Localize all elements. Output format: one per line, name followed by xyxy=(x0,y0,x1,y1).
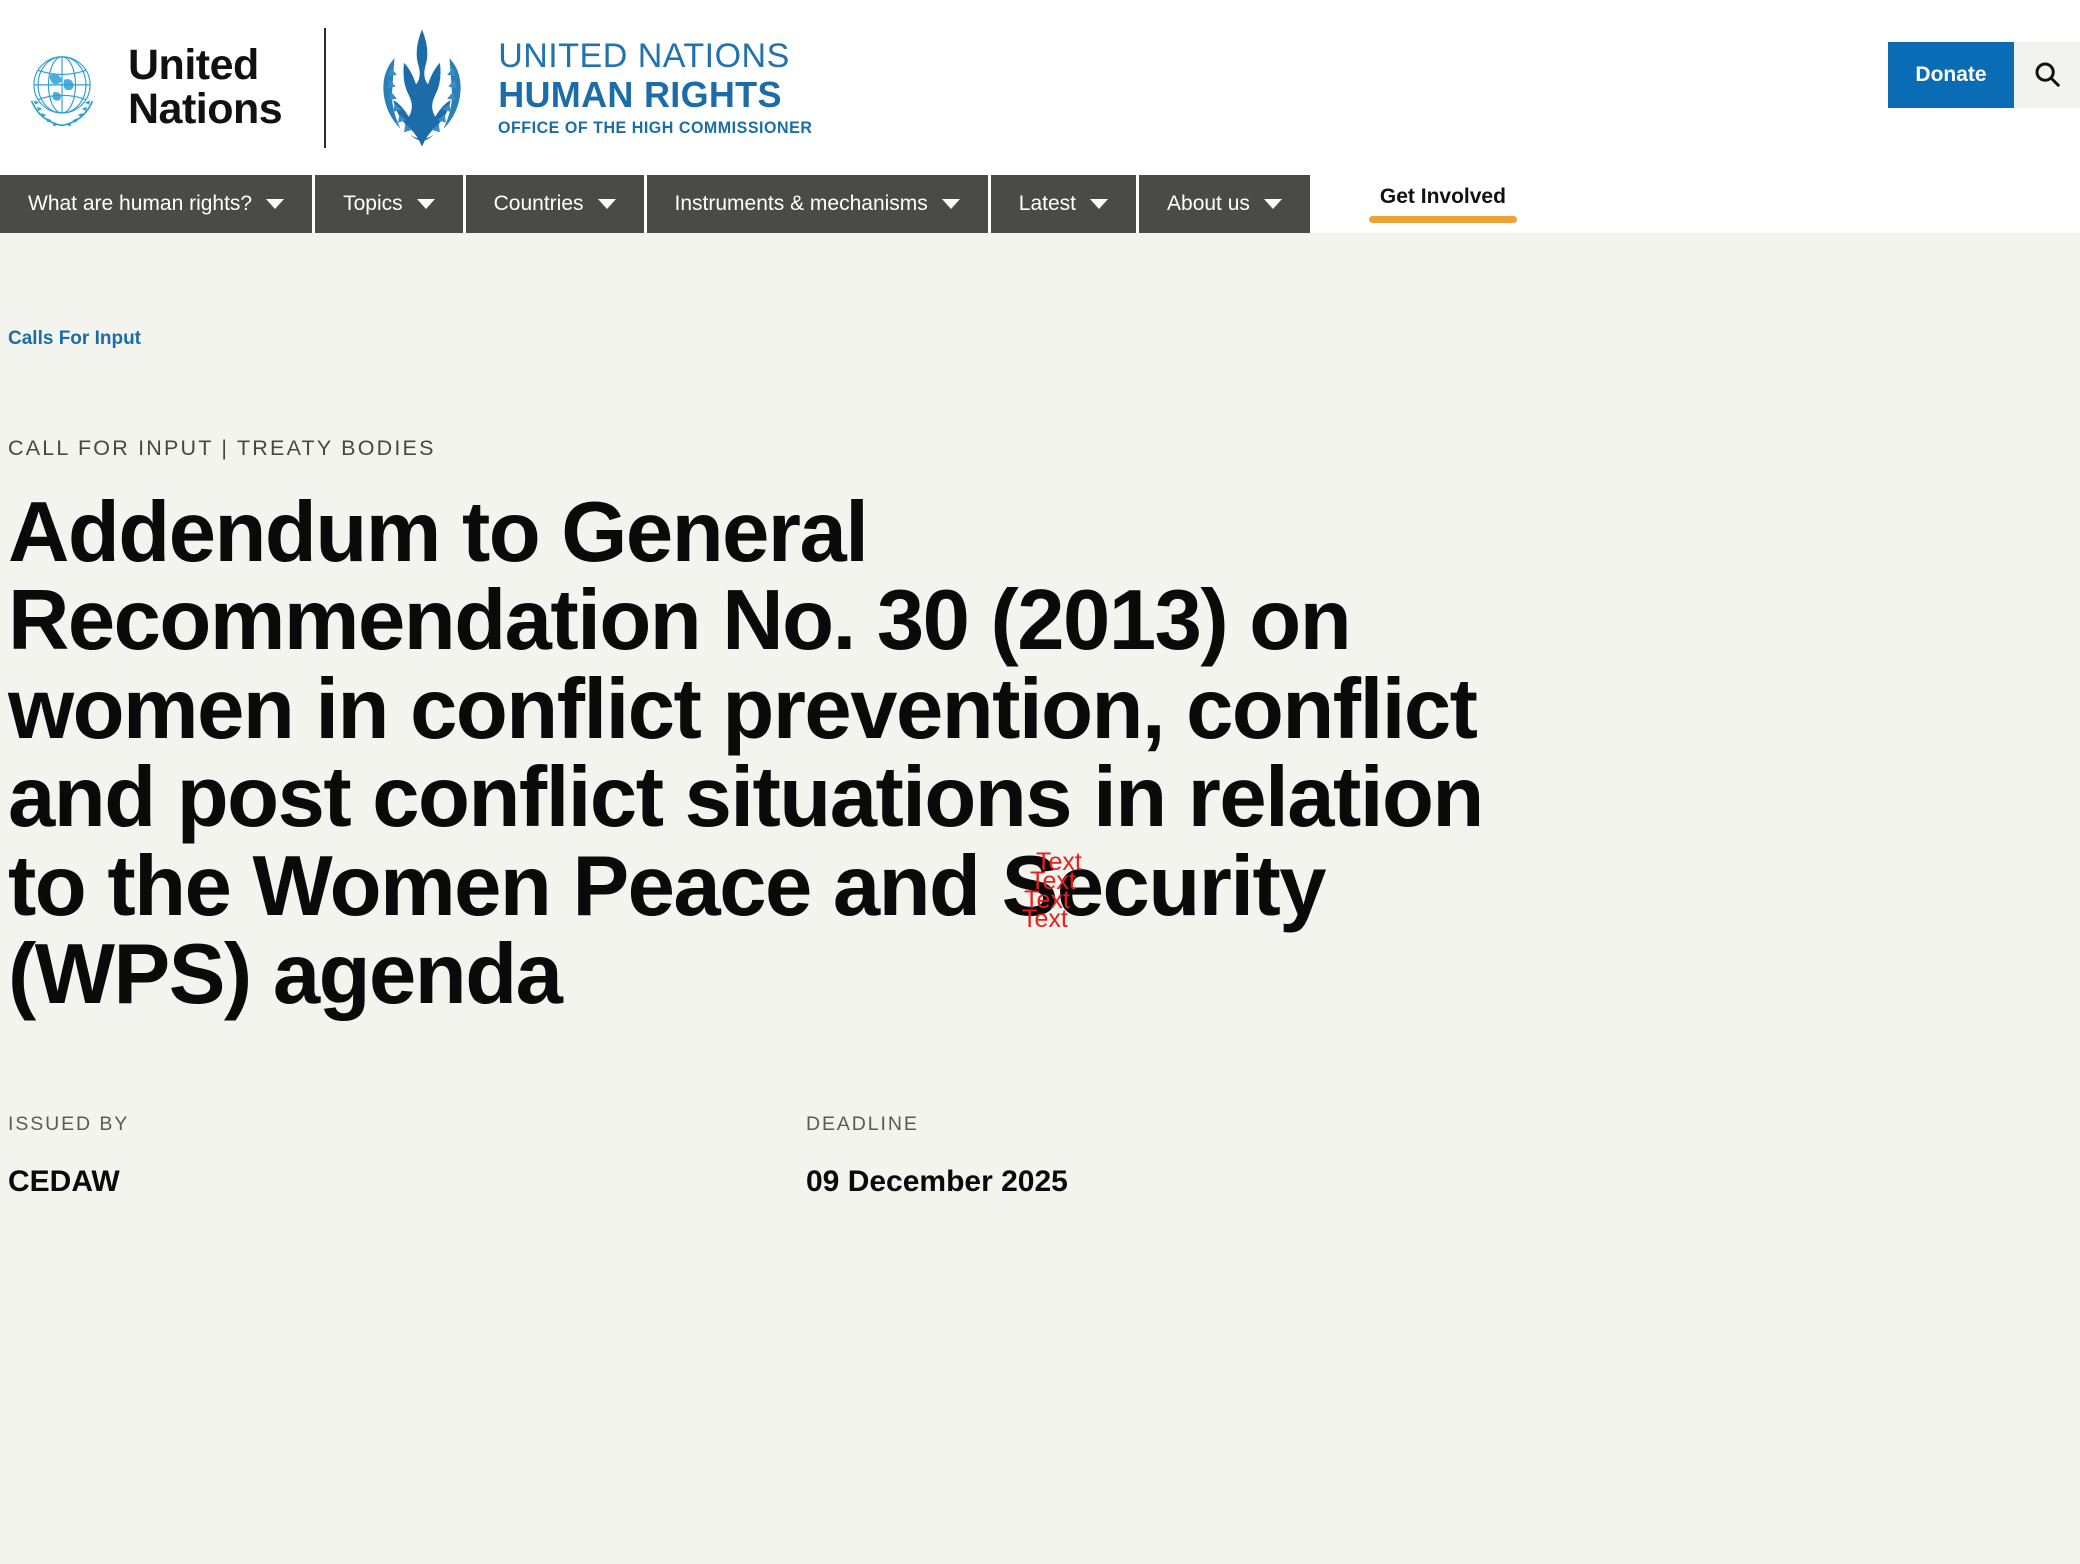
ohchr-flame-emblem-icon xyxy=(362,27,482,149)
chevron-down-icon xyxy=(1090,199,1108,209)
chevron-down-icon xyxy=(266,199,284,209)
nav-item-label: What are human rights? xyxy=(28,192,252,216)
issued-by-block: ISSUED BY CEDAW xyxy=(8,1113,806,1199)
nav-item-label: About us xyxy=(1167,192,1250,216)
breadcrumb[interactable]: Calls For Input xyxy=(8,233,141,350)
un-wordmark: United Nations xyxy=(128,44,282,132)
nav-item-label: Latest xyxy=(1019,192,1076,216)
nav-item-label: Instruments & mechanisms xyxy=(675,192,928,216)
nav-item-label: Topics xyxy=(343,192,403,216)
nav-item-topics[interactable]: Topics xyxy=(315,175,463,233)
un-wordmark-line1: United xyxy=(128,41,259,89)
nav-item-get-involved[interactable]: Get Involved xyxy=(1335,175,1551,233)
main-navigation: What are human rights? Topics Countries … xyxy=(0,175,2080,233)
issued-by-label: ISSUED BY xyxy=(8,1113,806,1136)
nav-item-latest[interactable]: Latest xyxy=(991,175,1136,233)
ohchr-wordmark: UNITED NATIONS HUMAN RIGHTS OFFICE OF TH… xyxy=(498,39,822,137)
nav-item-countries[interactable]: Countries xyxy=(466,175,644,233)
metadata-row: ISSUED BY CEDAW DEADLINE 09 December 202… xyxy=(8,1113,2072,1199)
donate-button[interactable]: Donate xyxy=(1888,42,2014,108)
issued-by-value: CEDAW xyxy=(8,1165,806,1199)
nav-item-about-us[interactable]: About us xyxy=(1139,175,1310,233)
ohchr-line-1: UNITED NATIONS xyxy=(498,39,822,73)
ohchr-logo-link[interactable]: UNITED NATIONS HUMAN RIGHTS OFFICE OF TH… xyxy=(362,27,822,149)
chevron-down-icon xyxy=(417,199,435,209)
get-involved-label: Get Involved xyxy=(1380,185,1506,209)
nav-item-instruments-and-mechanisms[interactable]: Instruments & mechanisms xyxy=(647,175,988,233)
chevron-down-icon xyxy=(598,199,616,209)
logo-divider xyxy=(324,28,326,148)
un-emblem-icon xyxy=(10,36,114,140)
deadline-label: DEADLINE xyxy=(806,1113,1604,1136)
content-type-eyebrow: CALL FOR INPUT | TREATY BODIES xyxy=(8,436,2072,461)
search-icon xyxy=(2032,59,2062,92)
chevron-down-icon xyxy=(1264,199,1282,209)
page-title: Addendum to General Recommendation No. 3… xyxy=(8,489,1508,1019)
chevron-down-icon xyxy=(942,199,960,209)
main-content: Calls For Input CALL FOR INPUT | TREATY … xyxy=(0,233,2080,1199)
nav-item-label: Countries xyxy=(494,192,584,216)
deadline-block: DEADLINE 09 December 2025 xyxy=(806,1113,1604,1199)
site-header: United Nations xyxy=(0,0,2080,175)
un-wordmark-line2: Nations xyxy=(128,85,282,133)
logo-block: United Nations xyxy=(0,0,822,175)
ohchr-line-2: HUMAN RIGHTS xyxy=(498,77,822,113)
un-logo-link[interactable]: United Nations xyxy=(10,36,282,140)
nav-item-what-are-human-rights[interactable]: What are human rights? xyxy=(0,175,312,233)
get-involved-underline xyxy=(1369,216,1517,223)
header-actions: Donate xyxy=(1888,42,2080,108)
deadline-value: 09 December 2025 xyxy=(806,1165,1604,1199)
search-button[interactable] xyxy=(2014,42,2080,108)
ohchr-line-3: OFFICE OF THE HIGH COMMISSIONER xyxy=(498,120,812,137)
